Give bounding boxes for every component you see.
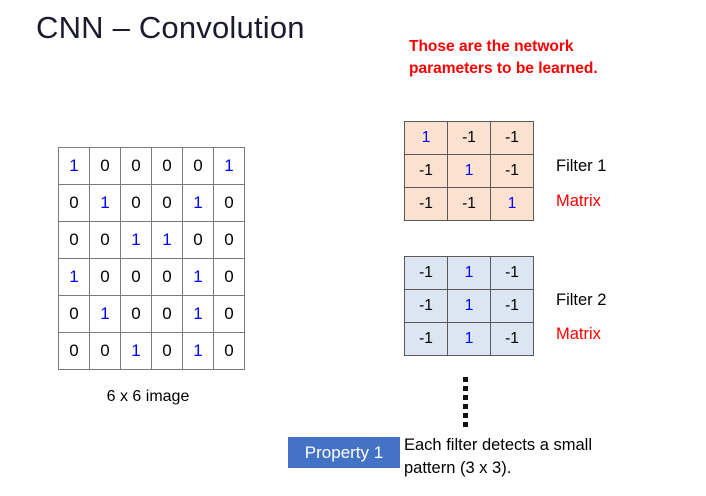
filter-2-label: Filter 2 (556, 291, 606, 310)
filter-1-label: Filter 1 (556, 157, 606, 176)
filter-1-sublabel: Matrix (556, 192, 601, 211)
image-matrix-cell-1-4: 1 (183, 185, 214, 222)
filter-1-matrix-body: 1-1-1-11-1-1-11 (405, 122, 534, 221)
filter-1-cell-2-0: -1 (405, 188, 448, 221)
image-matrix-cell-1-3: 0 (152, 185, 183, 222)
filter-2-row: -11-1 (405, 257, 534, 290)
image-matrix-body: 100001010010001100100010010010001010 (59, 148, 245, 370)
image-matrix-cell-0-0: 1 (59, 148, 90, 185)
image-matrix-cell-2-5: 0 (214, 222, 245, 259)
filter-2-row: -11-1 (405, 323, 534, 356)
image-matrix-grid: 100001010010001100100010010010001010 (58, 147, 245, 370)
image-matrix-cell-5-1: 0 (90, 333, 121, 370)
filter-2-cell-1-0: -1 (405, 290, 448, 323)
filter-2-cell-1-1: 1 (448, 290, 491, 323)
image-matrix-row: 001100 (59, 222, 245, 259)
image-matrix-row: 100010 (59, 259, 245, 296)
filter-1-matrix-grid: 1-1-1-11-1-1-11 (404, 121, 534, 221)
filter-1-cell-1-0: -1 (405, 155, 448, 188)
ellipsis-dot (463, 395, 468, 400)
property-1-description-line-1: Each filter detects a small (404, 434, 694, 457)
image-matrix-cell-1-0: 0 (59, 185, 90, 222)
filter-2-cell-2-1: 1 (448, 323, 491, 356)
vertical-ellipsis-icon (463, 377, 471, 427)
image-matrix-cell-4-1: 1 (90, 296, 121, 333)
filter-2-cell-2-2: -1 (491, 323, 534, 356)
filter-1-cell-2-2: 1 (491, 188, 534, 221)
property-1-badge: Property 1 (288, 437, 400, 468)
slide-canvas: CNN – Convolution Those are the network … (0, 0, 706, 496)
image-matrix-cell-5-0: 0 (59, 333, 90, 370)
property-1-description-line-2: pattern (3 x 3). (404, 457, 694, 480)
filter-1-cell-0-2: -1 (491, 122, 534, 155)
filter-1-row: -11-1 (405, 155, 534, 188)
image-matrix-cell-1-1: 1 (90, 185, 121, 222)
property-1-description: Each filter detects a small pattern (3 x… (404, 434, 694, 480)
image-matrix-row: 001010 (59, 333, 245, 370)
filter-2-sublabel: Matrix (556, 325, 601, 344)
filter-2-cell-0-0: -1 (405, 257, 448, 290)
image-matrix-cell-3-1: 0 (90, 259, 121, 296)
image-matrix-cell-3-2: 0 (121, 259, 152, 296)
image-matrix-cell-5-2: 1 (121, 333, 152, 370)
image-matrix-cell-4-0: 0 (59, 296, 90, 333)
image-matrix-cell-3-4: 1 (183, 259, 214, 296)
image-matrix-row: 100001 (59, 148, 245, 185)
filter-1-cell-0-1: -1 (448, 122, 491, 155)
filter-1-cell-1-1: 1 (448, 155, 491, 188)
filter-2-matrix-body: -11-1-11-1-11-1 (405, 257, 534, 356)
ellipsis-dot (463, 422, 468, 427)
filter-1-cell-1-2: -1 (491, 155, 534, 188)
ellipsis-dot (463, 377, 468, 382)
image-matrix-cell-2-2: 1 (121, 222, 152, 259)
network-parameters-note: Those are the network parameters to be l… (409, 36, 699, 80)
image-matrix-cell-5-4: 1 (183, 333, 214, 370)
image-matrix-cell-3-5: 0 (214, 259, 245, 296)
network-parameters-note-line-2: parameters to be learned. (409, 58, 699, 80)
image-matrix-cell-2-1: 0 (90, 222, 121, 259)
image-matrix-cell-0-3: 0 (152, 148, 183, 185)
image-matrix-row: 010010 (59, 296, 245, 333)
image-matrix-cell-1-5: 0 (214, 185, 245, 222)
filter-2-cell-0-1: 1 (448, 257, 491, 290)
image-matrix-cell-4-5: 0 (214, 296, 245, 333)
image-matrix-cell-0-4: 0 (183, 148, 214, 185)
image-matrix-row: 010010 (59, 185, 245, 222)
filter-2-cell-1-2: -1 (491, 290, 534, 323)
image-matrix-cell-0-2: 0 (121, 148, 152, 185)
filter-2-cell-2-0: -1 (405, 323, 448, 356)
image-matrix-caption: 6 x 6 image (58, 388, 238, 406)
page-title: CNN – Convolution (36, 10, 305, 46)
filter-1-cell-2-1: -1 (448, 188, 491, 221)
image-matrix-cell-2-4: 0 (183, 222, 214, 259)
ellipsis-dot (463, 386, 468, 391)
image-matrix-cell-2-3: 1 (152, 222, 183, 259)
image-matrix-cell-4-2: 0 (121, 296, 152, 333)
image-matrix-cell-0-1: 0 (90, 148, 121, 185)
filter-2-row: -11-1 (405, 290, 534, 323)
image-matrix-cell-4-4: 1 (183, 296, 214, 333)
network-parameters-note-line-1: Those are the network (409, 36, 699, 58)
image-matrix-cell-3-3: 0 (152, 259, 183, 296)
filter-1-cell-0-0: 1 (405, 122, 448, 155)
image-matrix-cell-2-0: 0 (59, 222, 90, 259)
filter-1-row: 1-1-1 (405, 122, 534, 155)
filter-2-cell-0-2: -1 (491, 257, 534, 290)
filter-1-row: -1-11 (405, 188, 534, 221)
image-matrix-cell-1-2: 0 (121, 185, 152, 222)
image-matrix-cell-3-0: 1 (59, 259, 90, 296)
image-matrix-cell-5-5: 0 (214, 333, 245, 370)
ellipsis-dot (463, 404, 468, 409)
image-matrix-cell-0-5: 1 (214, 148, 245, 185)
image-matrix-cell-4-3: 0 (152, 296, 183, 333)
filter-2-matrix-grid: -11-1-11-1-11-1 (404, 256, 534, 356)
image-matrix-cell-5-3: 0 (152, 333, 183, 370)
ellipsis-dot (463, 413, 468, 418)
